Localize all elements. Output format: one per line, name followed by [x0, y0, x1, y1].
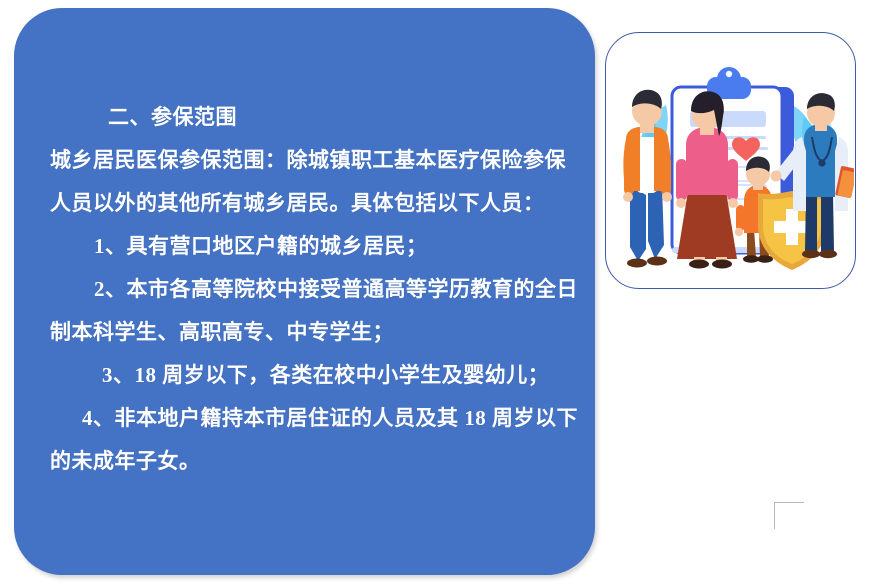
list-item-3: 3、18 周岁以下，各类在校中小学生及婴幼儿；: [50, 354, 577, 397]
blue-content-panel: 二、参保范围 城乡居民医保参保范围：除城镇职工基本医疗保险参保 人员以外的其他所…: [14, 8, 595, 575]
medical-insurance-illustration: [606, 33, 854, 287]
body-line-1: 城乡居民医保参保范围：除城镇职工基本医疗保险参保: [50, 139, 577, 182]
list-item-2: 2、本市各高等院校中接受普通高等学历教育的全日: [50, 268, 577, 311]
section-heading: 二、参保范围: [50, 96, 577, 139]
list-item-4: 4、非本地户籍持本市居住证的人员及其 18 周岁以下: [50, 397, 577, 440]
list-item-2-cont: 制本科学生、高职高专、中专学生；: [50, 311, 577, 354]
insurance-scope-text-block: 二、参保范围 城乡居民医保参保范围：除城镇职工基本医疗保险参保 人员以外的其他所…: [50, 96, 577, 483]
list-item-4-cont: 的未成年子女。: [50, 440, 577, 483]
list-item-1: 1、具有营口地区户籍的城乡居民；: [50, 225, 577, 268]
crop-corner-mark: [774, 502, 804, 529]
body-line-2: 人员以外的其他所有城乡居民。具体包括以下人员：: [50, 182, 577, 225]
illustration-card: [605, 32, 856, 289]
